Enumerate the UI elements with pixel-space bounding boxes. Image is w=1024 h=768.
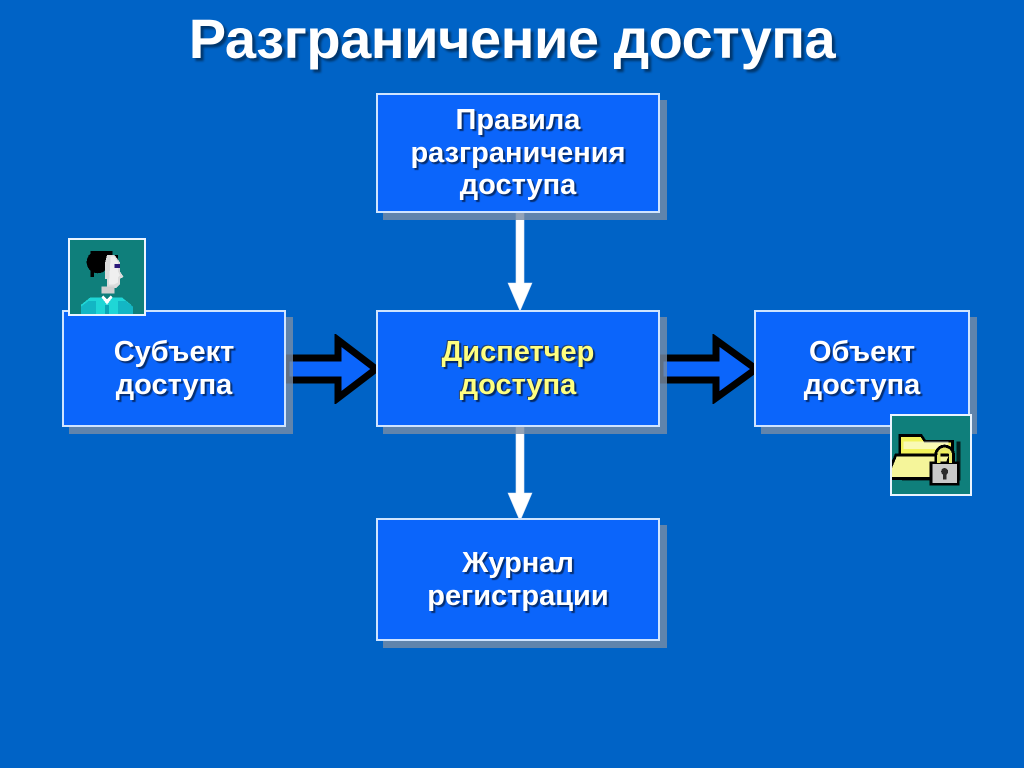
- node-access-manager-line2: доступа: [460, 369, 577, 401]
- page-title: Разграничение доступа: [0, 6, 1024, 71]
- node-access-manager[interactable]: Диспетчер доступа: [376, 310, 660, 427]
- slide-canvas: Разграничение доступа Правила разграниче…: [0, 0, 1024, 768]
- node-registration-journal-line1: Журнал: [462, 547, 574, 579]
- node-access-rules-line1: Правила: [456, 104, 581, 136]
- arrow-right-manager-to-object: [660, 334, 758, 409]
- arrow-down-rules-to-manager: [506, 213, 534, 318]
- arrow-right-subject-to-manager: [286, 334, 378, 409]
- node-access-subject-line1: Субъект: [114, 336, 235, 368]
- node-access-rules-line2: разграничения: [410, 137, 625, 169]
- node-access-object-label: Объект доступа: [796, 336, 929, 401]
- node-access-object-line1: Объект: [809, 336, 915, 368]
- node-registration-journal-label: Журнал регистрации: [419, 547, 616, 612]
- node-access-rules-line3: доступа: [460, 169, 577, 201]
- node-access-subject[interactable]: Субъект доступа: [62, 310, 286, 427]
- node-registration-journal-line2: регистрации: [427, 580, 608, 612]
- node-access-rules-label: Правила разграничения доступа: [402, 104, 633, 201]
- arrow-down-manager-to-journal: [506, 427, 534, 528]
- node-access-subject-label: Субъект доступа: [106, 336, 243, 401]
- node-access-rules[interactable]: Правила разграничения доступа: [376, 93, 660, 213]
- node-access-manager-label: Диспетчер доступа: [434, 336, 603, 401]
- node-registration-journal[interactable]: Журнал регистрации: [376, 518, 660, 641]
- node-access-object[interactable]: Объект доступа: [754, 310, 970, 427]
- folder-lock-icon: [890, 414, 972, 496]
- node-access-manager-line1: Диспетчер: [442, 336, 595, 368]
- node-access-object-line2: доступа: [804, 369, 921, 401]
- node-access-subject-line2: доступа: [116, 369, 233, 401]
- person-icon: [68, 238, 146, 316]
